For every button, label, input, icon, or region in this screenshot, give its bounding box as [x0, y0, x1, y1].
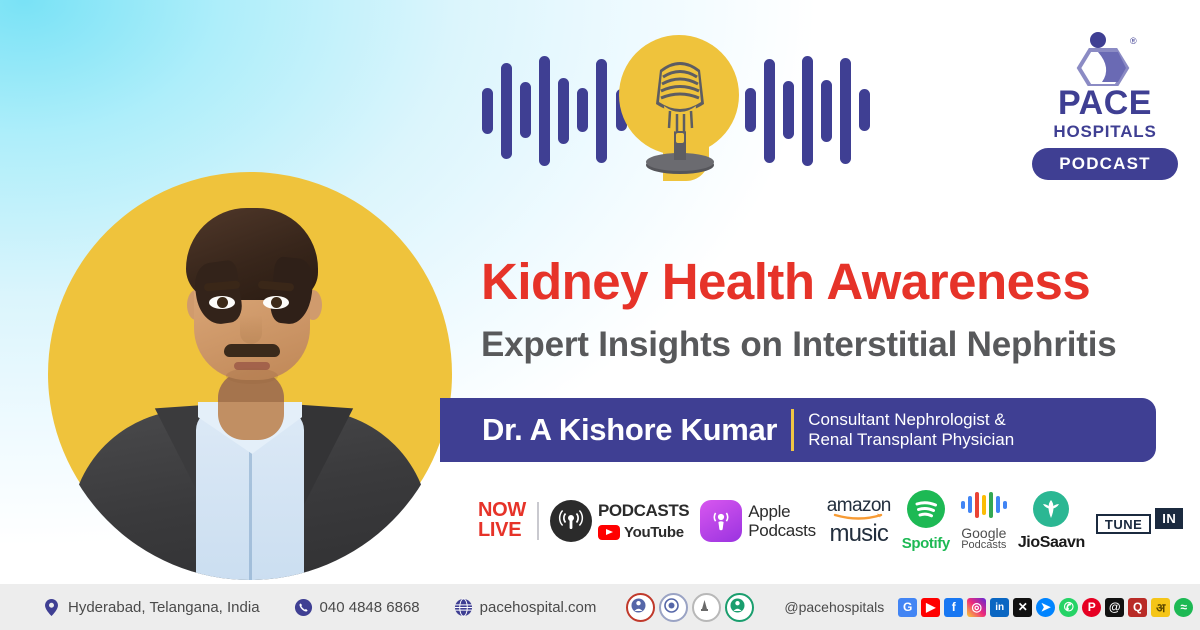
platform-list: NOW LIVE PODCASTS YouTube [478, 488, 1183, 554]
instagram-icon[interactable]: ◎ [967, 598, 986, 617]
speaker-name-bar: Dr. A Kishore Kumar Consultant Nephrolog… [440, 398, 1156, 462]
avatar [48, 110, 452, 580]
jci-seal-icon [725, 593, 754, 622]
nabl-seal-icon [659, 593, 688, 622]
facebook-icon[interactable]: f [944, 598, 963, 617]
podcast-badge: PODCAST [1032, 148, 1178, 180]
phone-icon [294, 598, 313, 617]
footer-location: Hyderabad, Telangana, India [42, 598, 260, 617]
spotify-label: Spotify [902, 535, 950, 552]
threads-icon[interactable]: @ [1105, 598, 1124, 617]
jiosaavn-label: JioSaavn [1018, 534, 1085, 552]
quora-icon[interactable]: Q [1128, 598, 1147, 617]
social-links: G ▶ f ◎ in ✕ ➤ ✆ P @ Q अ ≈ [898, 598, 1193, 617]
pace-hospitals-logo: ® PACE HOSPITALS PODCAST [1032, 30, 1178, 180]
now-live-line-2: LIVE [478, 521, 526, 541]
apple-podcasts-icon [700, 500, 742, 542]
footer-website[interactable]: pacehospital.com [454, 598, 597, 617]
youtube-icon[interactable]: ▶ [921, 598, 940, 617]
practo-icon[interactable]: अ [1151, 598, 1170, 617]
speaker-role-line-1: Consultant Nephrologist & [808, 410, 1014, 430]
spotify-icon[interactable]: ≈ [1174, 598, 1193, 617]
platform-amazon-music[interactable]: amazon music [827, 496, 891, 546]
whatsapp-icon[interactable]: ✆ [1059, 598, 1078, 617]
platform-label-line-1: Google [961, 526, 1006, 540]
jiosaavn-icon [1033, 491, 1069, 527]
page-subtitle: Expert Insights on Interstitial Nephriti… [481, 327, 1171, 362]
footer-phone[interactable]: 040 4848 6868 [294, 598, 420, 617]
microphone-icon [630, 46, 730, 176]
divider [791, 409, 794, 451]
page-title: Kidney Health Awareness [481, 256, 1171, 307]
platform-spotify[interactable]: Spotify [902, 490, 950, 552]
social-handle: @pacehospitals [784, 599, 884, 615]
spotify-icon [907, 490, 945, 528]
x-twitter-icon[interactable]: ✕ [1013, 598, 1032, 617]
platform-label-line-2: Podcasts [748, 521, 816, 540]
tunein-label-tune: TUNE [1096, 514, 1151, 534]
google-podcasts-label: Google Podcasts [961, 526, 1006, 551]
divider [537, 502, 539, 540]
pinterest-icon[interactable]: P [1082, 598, 1101, 617]
messenger-icon[interactable]: ➤ [1036, 598, 1055, 617]
platform-youtube-podcasts[interactable]: PODCASTS YouTube [550, 500, 689, 542]
speaker-name: Dr. A Kishore Kumar [482, 412, 777, 448]
platform-label-line-1: amazon [827, 496, 891, 515]
platform-label-line-2: YouTube [624, 524, 684, 541]
podcast-promo-poster: ® PACE HOSPITALS PODCAST Kidney Health A… [0, 0, 1200, 630]
apple-podcasts-label: Apple Podcasts [748, 502, 816, 540]
footer-location-text: Hyderabad, Telangana, India [68, 599, 260, 616]
footer-phone-text: 040 4848 6868 [320, 599, 420, 616]
platform-label-line-2: Podcasts [961, 540, 1006, 551]
map-pin-icon [42, 598, 61, 617]
pace-logo-word: PACE [1032, 86, 1178, 120]
google-podcasts-icon [961, 492, 1007, 518]
platform-google-podcasts[interactable]: Google Podcasts [961, 492, 1007, 551]
now-live-badge: NOW LIVE [478, 501, 526, 540]
audio-waveform-icon-right [745, 26, 885, 194]
accreditation-seals [626, 593, 754, 622]
pace-logo-subword: HOSPITALS [1032, 123, 1178, 140]
tunein-label-in: IN [1155, 508, 1183, 529]
footer-website-text: pacehospital.com [480, 599, 597, 616]
speaker-role-line-2: Renal Transplant Physician [808, 430, 1014, 450]
footer-bar: Hyderabad, Telangana, India 040 4848 686… [0, 584, 1200, 630]
platform-tunein[interactable]: TUNE IN [1096, 508, 1183, 534]
iso-seal-icon [692, 593, 721, 622]
platform-apple-podcasts[interactable]: Apple Podcasts [700, 500, 816, 542]
podcast-waves-icon [550, 500, 592, 542]
google-business-icon[interactable]: G [898, 598, 917, 617]
nabh-seal-icon [626, 593, 655, 622]
youtube-play-icon [598, 525, 620, 540]
platform-label-line-2: music [827, 522, 891, 546]
svg-text:®: ® [1130, 36, 1137, 46]
youtube-podcasts-label: PODCASTS YouTube [598, 502, 689, 541]
platform-label-line-1: Apple [748, 502, 816, 521]
linkedin-icon[interactable]: in [990, 598, 1009, 617]
audio-waveform-icon [482, 26, 622, 194]
globe-icon [454, 598, 473, 617]
speaker-role: Consultant Nephrologist & Renal Transpla… [808, 410, 1014, 450]
platform-label-line-1: PODCASTS [598, 501, 689, 520]
pace-hexagon-mark: ® [1032, 30, 1178, 86]
platform-jiosaavn[interactable]: JioSaavn [1018, 491, 1085, 552]
